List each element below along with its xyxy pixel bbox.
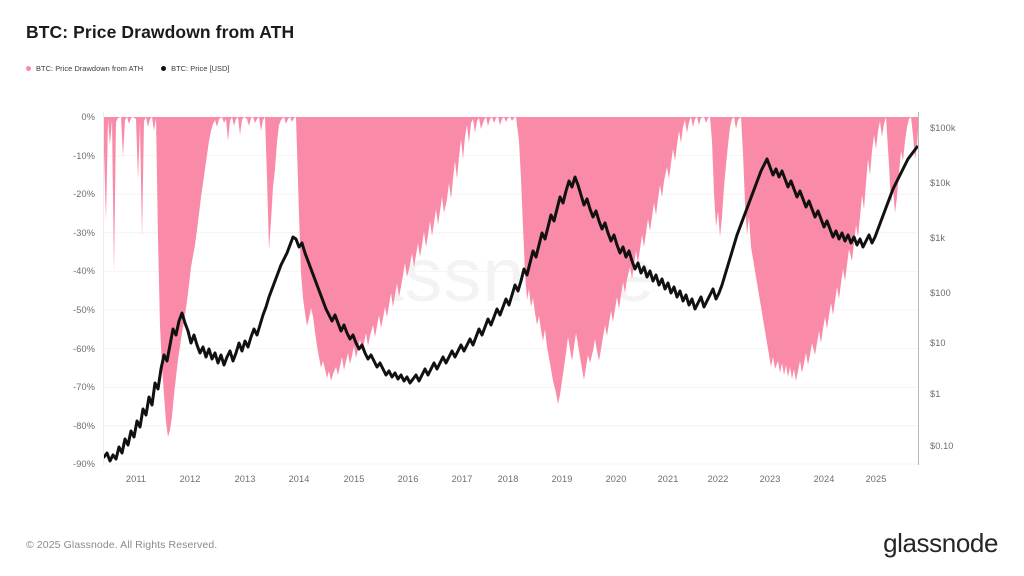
xtick-2025: 2025: [866, 474, 887, 484]
xtick-2015: 2015: [344, 474, 365, 484]
xtick-2023: 2023: [760, 474, 781, 484]
xtick-2020: 2020: [606, 474, 627, 484]
legend-label-drawdown: BTC: Price Drawdown from ATH: [36, 64, 143, 73]
xtick-2016: 2016: [398, 474, 419, 484]
ytick-right-5: $1: [930, 389, 940, 399]
ytick-left-1: -10%: [40, 151, 95, 161]
page-title: BTC: Price Drawdown from ATH: [26, 22, 294, 43]
legend-item-price[interactable]: BTC: Price [USD]: [161, 64, 229, 73]
xtick-2022: 2022: [708, 474, 729, 484]
ytick-right-0: $100k: [930, 123, 956, 133]
left-axis-line: [103, 112, 104, 465]
chart-page: BTC: Price Drawdown from ATH BTC: Price …: [0, 0, 1024, 576]
ytick-right-6: $0.10: [930, 441, 954, 451]
glassnode-logo: glassnode: [883, 528, 998, 559]
xtick-2011: 2011: [126, 474, 146, 484]
ytick-left-3: -30%: [40, 228, 95, 238]
chart-legend: BTC: Price Drawdown from ATH BTC: Price …: [26, 64, 230, 73]
legend-dot-pink-icon: [26, 66, 31, 71]
series-drawdown-area: [103, 117, 918, 437]
xtick-2018: 2018: [498, 474, 519, 484]
ytick-right-3: $100: [930, 288, 951, 298]
ytick-left-2: -20%: [40, 189, 95, 199]
xtick-2017: 2017: [452, 474, 473, 484]
legend-item-drawdown[interactable]: BTC: Price Drawdown from ATH: [26, 64, 143, 73]
legend-dot-black-icon: [161, 66, 166, 71]
chart-plot-area[interactable]: [103, 117, 918, 465]
xtick-2012: 2012: [180, 474, 201, 484]
ytick-right-4: $10: [930, 338, 946, 348]
ytick-left-5: -50%: [40, 305, 95, 315]
xtick-2021: 2021: [658, 474, 679, 484]
ytick-right-2: $1k: [930, 233, 945, 243]
ytick-left-9: -90%: [40, 459, 95, 469]
ytick-left-0: 0%: [40, 112, 95, 122]
ytick-left-4: -40%: [40, 266, 95, 276]
ytick-left-6: -60%: [40, 344, 95, 354]
right-axis-line: [918, 112, 919, 465]
footer-copyright: © 2025 Glassnode. All Rights Reserved.: [26, 539, 217, 551]
ytick-right-1: $10k: [930, 178, 950, 188]
xtick-2019: 2019: [552, 474, 573, 484]
chart-series-svg: [103, 117, 918, 465]
legend-label-price: BTC: Price [USD]: [171, 64, 229, 73]
xtick-2024: 2024: [814, 474, 835, 484]
xtick-2013: 2013: [235, 474, 256, 484]
ytick-left-8: -80%: [40, 421, 95, 431]
xtick-2014: 2014: [289, 474, 310, 484]
ytick-left-7: -70%: [40, 382, 95, 392]
